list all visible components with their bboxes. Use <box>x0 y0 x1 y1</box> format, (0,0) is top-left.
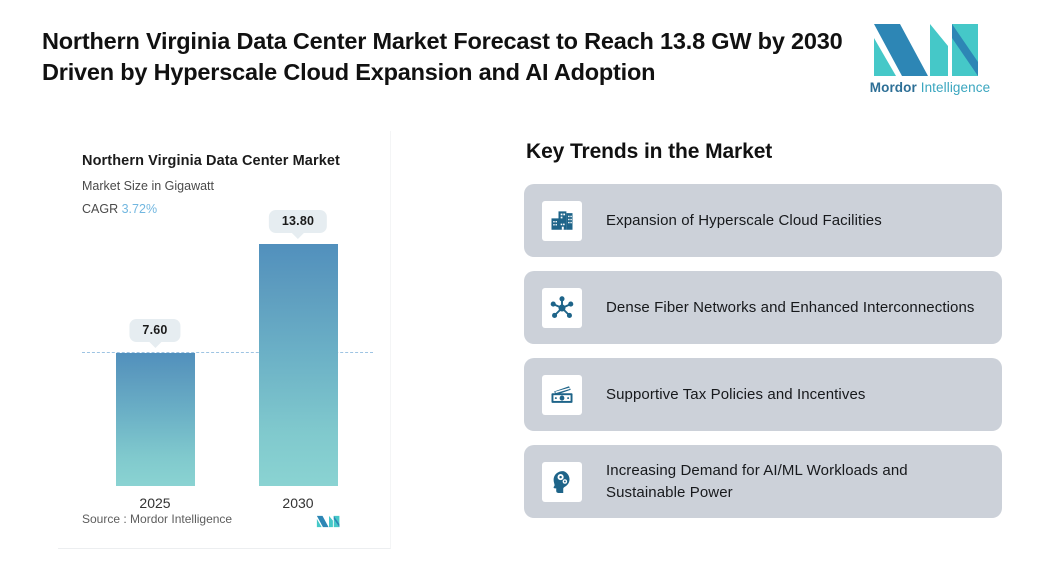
key-trends-panel: Key Trends in the Market <box>524 140 1002 532</box>
bar-category-label: 2030 <box>282 495 313 511</box>
chart-panel: Northern Virginia Data Center Market Mar… <box>58 131 391 549</box>
bar-value-badge: 7.60 <box>129 319 180 342</box>
mordor-m-logo-small-icon <box>316 513 342 530</box>
trend-card-fiber-networks[interactable]: Dense Fiber Networks and Enhanced Interc… <box>524 271 1002 344</box>
chart-source: Source : Mordor Intelligence <box>82 512 232 526</box>
brand-logo: Mordor Intelligence <box>866 24 994 100</box>
buildings-icon <box>542 201 582 241</box>
trends-heading: Key Trends in the Market <box>526 140 1002 164</box>
page-title: Northern Virginia Data Center Market For… <box>42 26 852 88</box>
trend-card-tax-policies[interactable]: Supportive Tax Policies and Incentives <box>524 358 1002 431</box>
network-nodes-icon <box>542 288 582 328</box>
bar-group-2025: 7.60 2025 <box>116 353 195 486</box>
trend-label: Increasing Demand for AI/ML Workloads an… <box>606 460 984 504</box>
trend-card-hyperscale[interactable]: Expansion of Hyperscale Cloud Facilities <box>524 184 1002 257</box>
bar-group-2030: 13.80 2030 <box>259 244 338 486</box>
brand-name-bold: Mordor <box>870 80 917 95</box>
trend-label: Dense Fiber Networks and Enhanced Interc… <box>606 297 975 319</box>
brand-name-light: Intelligence <box>921 80 991 95</box>
bar[interactable] <box>259 244 338 486</box>
bar-category-label: 2025 <box>139 495 170 511</box>
money-banknotes-icon <box>542 375 582 415</box>
chart-plot-area: 7.60 2025 13.80 2030 <box>58 131 391 549</box>
page-header: Northern Virginia Data Center Market For… <box>0 0 1045 118</box>
brand-wordmark: Mordor Intelligence <box>866 80 994 95</box>
mordor-m-logo-icon <box>870 24 990 76</box>
trend-card-ai-ml-workloads[interactable]: Increasing Demand for AI/ML Workloads an… <box>524 445 1002 518</box>
source-name: Mordor Intelligence <box>130 512 232 526</box>
bar[interactable] <box>116 353 195 486</box>
trend-label: Supportive Tax Policies and Incentives <box>606 384 866 406</box>
source-label: Source : <box>82 512 127 526</box>
trend-label: Expansion of Hyperscale Cloud Facilities <box>606 210 882 232</box>
ai-head-gears-icon <box>542 462 582 502</box>
bar-value-badge: 13.80 <box>269 210 327 233</box>
